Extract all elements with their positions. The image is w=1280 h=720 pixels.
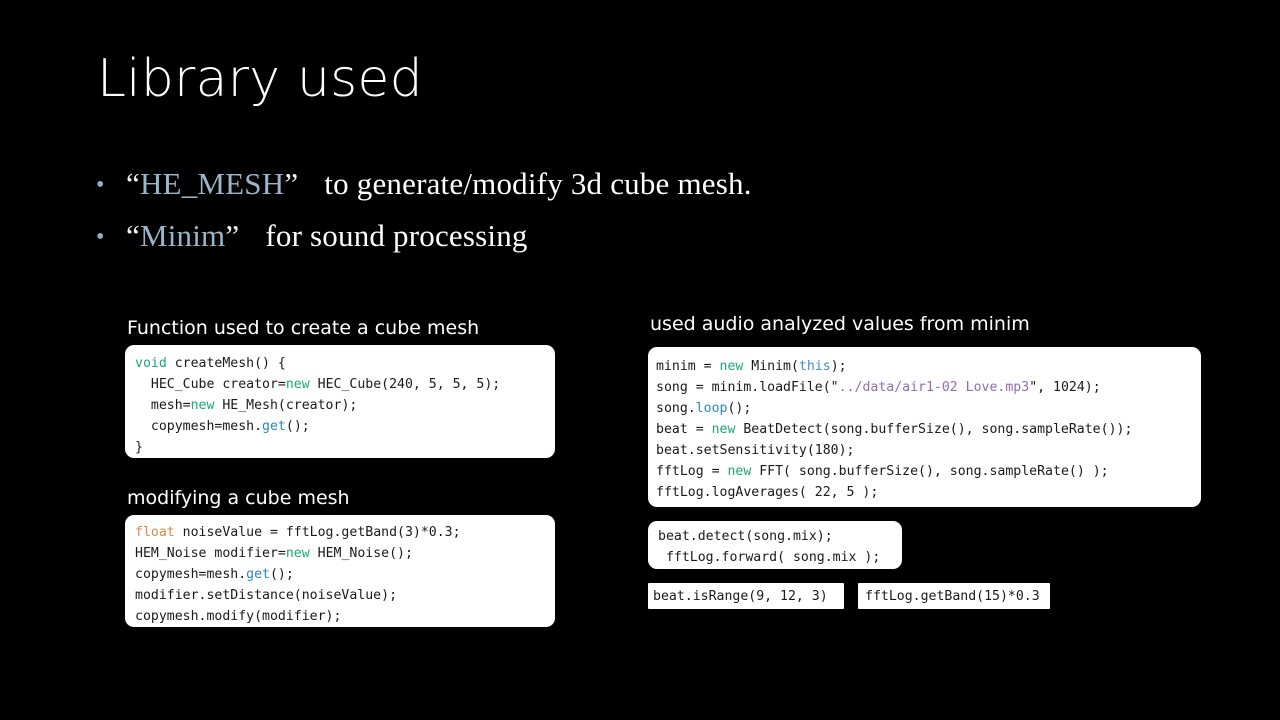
bullet-content: “Minim”for sound processing	[126, 218, 528, 254]
code-block-create-mesh: void createMesh() { HEC_Cube creator=new…	[125, 345, 555, 458]
close-quote: ”	[284, 166, 298, 201]
bullet-description: to generate/modify 3d cube mesh.	[324, 166, 751, 201]
bullet-marker-icon: •	[96, 173, 126, 197]
code-block-minim-draw: beat.detect(song.mix); fftLog.forward( s…	[648, 521, 902, 569]
close-quote: ”	[225, 218, 239, 253]
section-heading-modify-mesh: modifying a cube mesh	[127, 487, 350, 509]
section-heading-create-mesh: Function used to create a cube mesh	[127, 317, 479, 339]
list-item: • “Minim”for sound processing	[96, 218, 1156, 270]
open-quote: “	[126, 166, 140, 201]
code-block-modify-mesh: float noiseValue = fftLog.getBand(3)*0.3…	[125, 515, 555, 627]
section-heading-minim: used audio analyzed values from minim	[650, 313, 1030, 335]
library-name: Minim	[140, 218, 225, 253]
code-block-fft-get-band: fftLog.getBand(15)*0.3	[858, 583, 1050, 609]
bullet-description: for sound processing	[265, 218, 527, 253]
slide-canvas: { "slide": { "title": "Library used", "b…	[0, 0, 1280, 720]
bullet-marker-icon: •	[96, 225, 126, 249]
open-quote: “	[126, 218, 140, 253]
code-block-minim-setup: minim = new Minim(this); song = minim.lo…	[648, 347, 1201, 507]
bullet-content: “HE_MESH”to generate/modify 3d cube mesh…	[126, 166, 752, 202]
page-title: Library used	[97, 48, 423, 110]
bullet-list: • “HE_MESH”to generate/modify 3d cube me…	[96, 166, 1156, 270]
list-item: • “HE_MESH”to generate/modify 3d cube me…	[96, 166, 1156, 218]
library-name: HE_MESH	[140, 166, 284, 201]
code-block-beat-is-range: beat.isRange(9, 12, 3)	[648, 583, 844, 609]
